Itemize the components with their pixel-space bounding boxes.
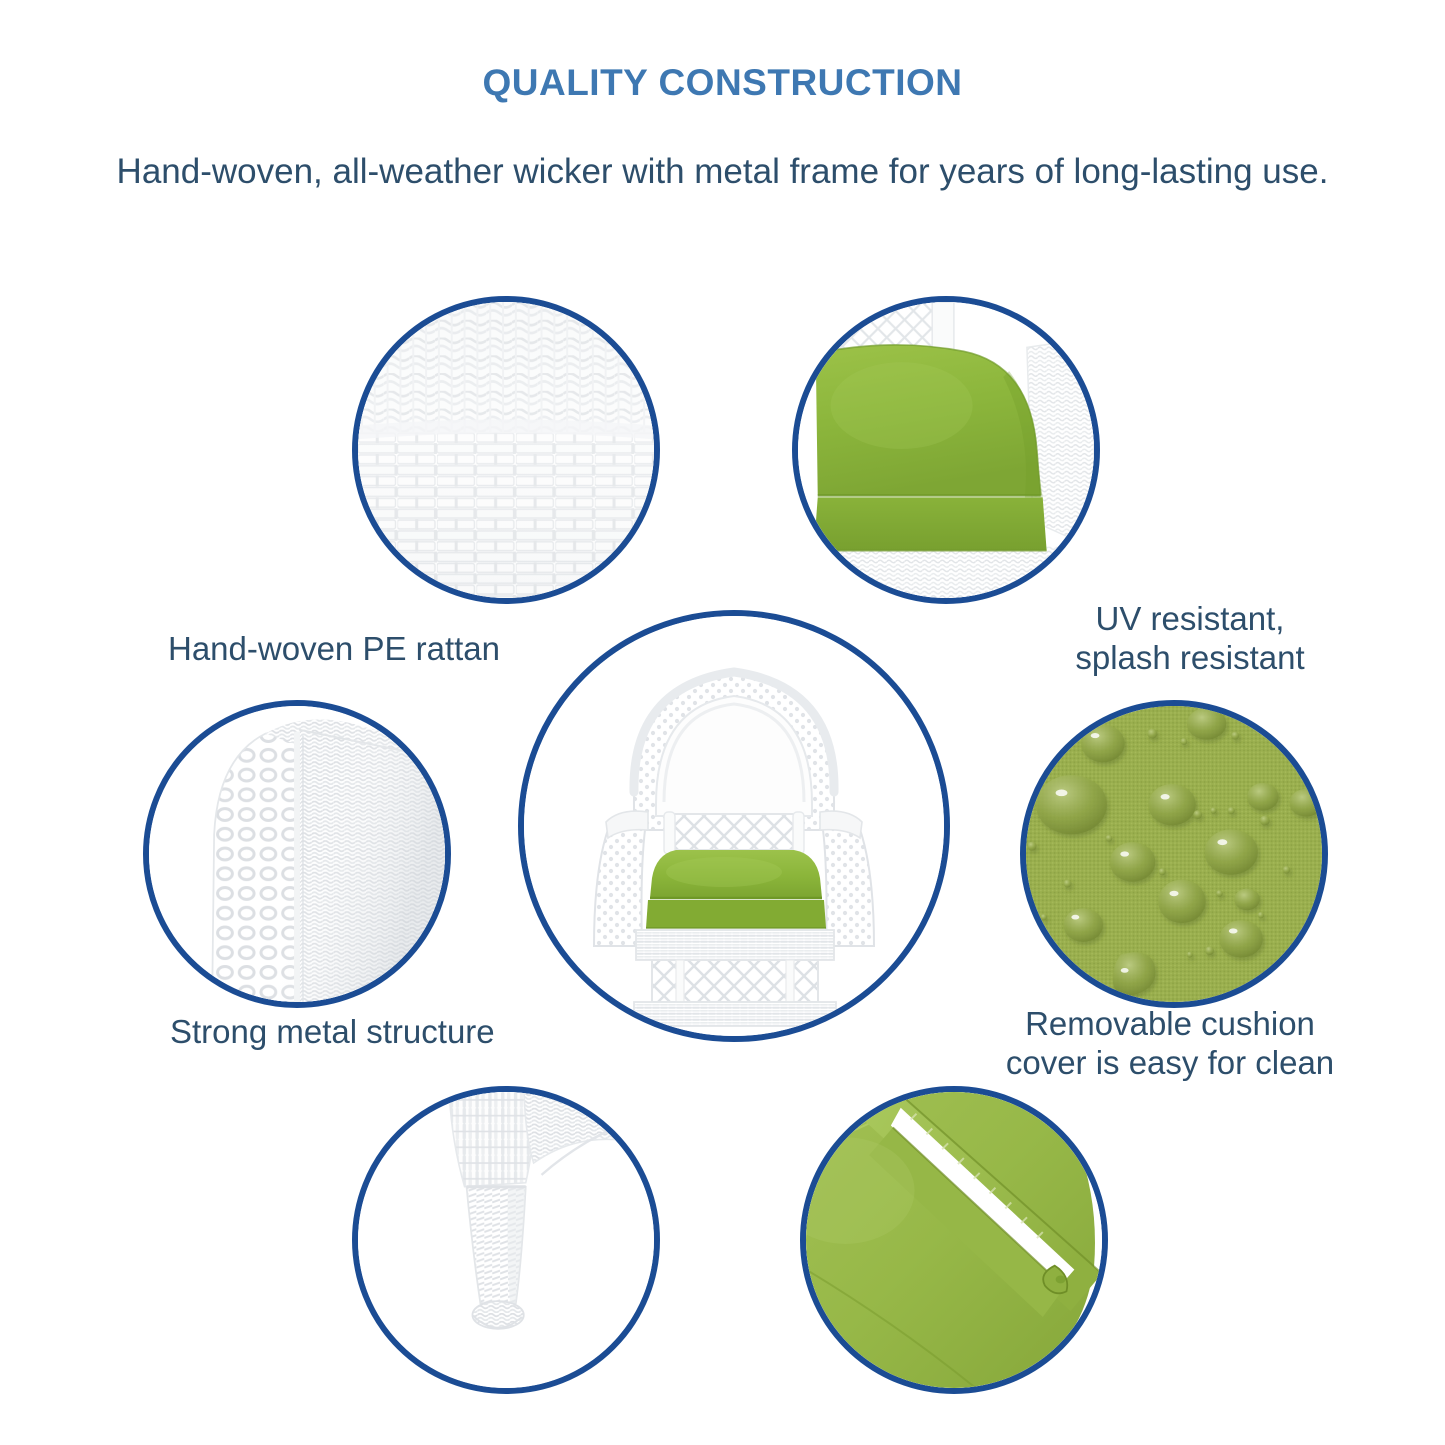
page-title: QUALITY CONSTRUCTION [0,0,1445,104]
feature-bubble-chair [518,610,950,1042]
feature-bubble-cushion [792,296,1100,604]
wicker-armchair-image [524,616,944,1036]
water-droplets-image [1026,706,1322,1002]
feature-bubble-leg [352,1086,660,1394]
caption-uv-resistant: UV resistant, splash resistant [1040,600,1340,678]
armrest-weave-image [149,706,445,1002]
caption-removable-cover: Removable cushion cover is easy for clea… [1000,1005,1340,1083]
wicker-weave-image [358,302,654,598]
feature-bubble-rattan [352,296,660,604]
page-subtitle: Hand-woven, all-weather wicker with meta… [0,104,1445,192]
header: QUALITY CONSTRUCTION Hand-woven, all-wea… [0,0,1445,192]
cushion-zipper-image [806,1092,1102,1388]
feature-bubble-armrest [143,700,451,1008]
green-cushion-image [798,302,1094,598]
feature-bubble-water-repellent [1020,700,1328,1008]
chair-leg-image [358,1092,654,1388]
caption-rattan: Hand-woven PE rattan [168,630,500,669]
caption-metal-structure: Strong metal structure [170,1013,495,1052]
feature-bubble-zipper [800,1086,1108,1394]
